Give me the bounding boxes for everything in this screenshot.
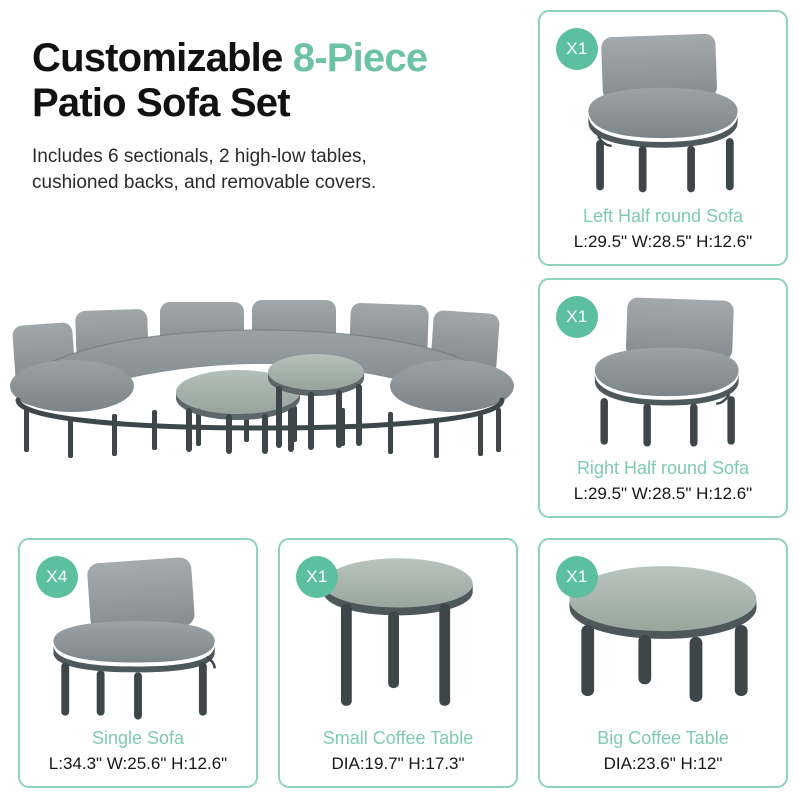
card-dimensions: L:34.3" W:25.6" H:12.6" [26, 753, 250, 774]
product-card-left-half-round-sofa[interactable]: X1 [538, 10, 788, 266]
card-dimensions: DIA:23.6" H:12" [546, 753, 780, 774]
page-subtitle-line1: Includes 6 sectionals, 2 high-low tables… [32, 146, 367, 167]
quantity-badge: X1 [556, 556, 598, 598]
card-dimensions: DIA:19.7" H:17.3" [286, 753, 510, 774]
card-title: Single Sofa [26, 727, 250, 750]
product-card-big-coffee-table[interactable]: X1 Big Coffee Table DIA:23 [538, 538, 788, 788]
quantity-badge: X1 [296, 556, 338, 598]
card-title: Small Coffee Table [286, 727, 510, 750]
card-title: Big Coffee Table [546, 727, 780, 750]
card-title: Left Half round Sofa [546, 205, 780, 228]
card-title: Right Half round Sofa [546, 457, 780, 480]
product-card-small-coffee-table[interactable]: X1 Small Coffee Table DIA:19.7" H:17. [278, 538, 518, 788]
product-card-single-sofa[interactable]: X4 [18, 538, 258, 788]
card-dimensions: L:29.5" W:28.5" H:12.6" [546, 231, 780, 252]
page-title-plain: Customizable [32, 36, 293, 80]
page-title-line2: Patio Sofa Set [32, 81, 290, 125]
product-card-right-half-round-sofa[interactable]: X1 [538, 278, 788, 518]
quantity-badge: X1 [556, 296, 598, 338]
headline-block: Customizable 8-Piece Patio Sofa Set Incl… [32, 36, 512, 196]
quantity-badge: X4 [36, 556, 78, 598]
quantity-badge: X1 [556, 28, 598, 70]
infographic-page: Customizable 8-Piece Patio Sofa Set Incl… [0, 0, 800, 800]
hero-right-end-seat [390, 360, 514, 412]
hero-sofa-set-image [0, 268, 522, 458]
card-caption: Left Half round Sofa L:29.5" W:28.5" H:1… [546, 205, 780, 252]
card-caption: Single Sofa L:34.3" W:25.6" H:12.6" [26, 727, 250, 774]
page-title: Customizable 8-Piece Patio Sofa Set [32, 36, 512, 126]
page-title-accent: 8-Piece [293, 36, 428, 80]
page-subtitle-line2: cushioned backs, and removable covers. [32, 172, 376, 193]
card-caption: Small Coffee Table DIA:19.7" H:17.3" [286, 727, 510, 774]
page-subtitle: Includes 6 sectionals, 2 high-low tables… [32, 144, 512, 196]
card-caption: Right Half round Sofa L:29.5" W:28.5" H:… [546, 457, 780, 504]
card-dimensions: L:29.5" W:28.5" H:12.6" [546, 483, 780, 504]
hero-left-end-seat [10, 360, 134, 412]
card-caption: Big Coffee Table DIA:23.6" H:12" [546, 727, 780, 774]
